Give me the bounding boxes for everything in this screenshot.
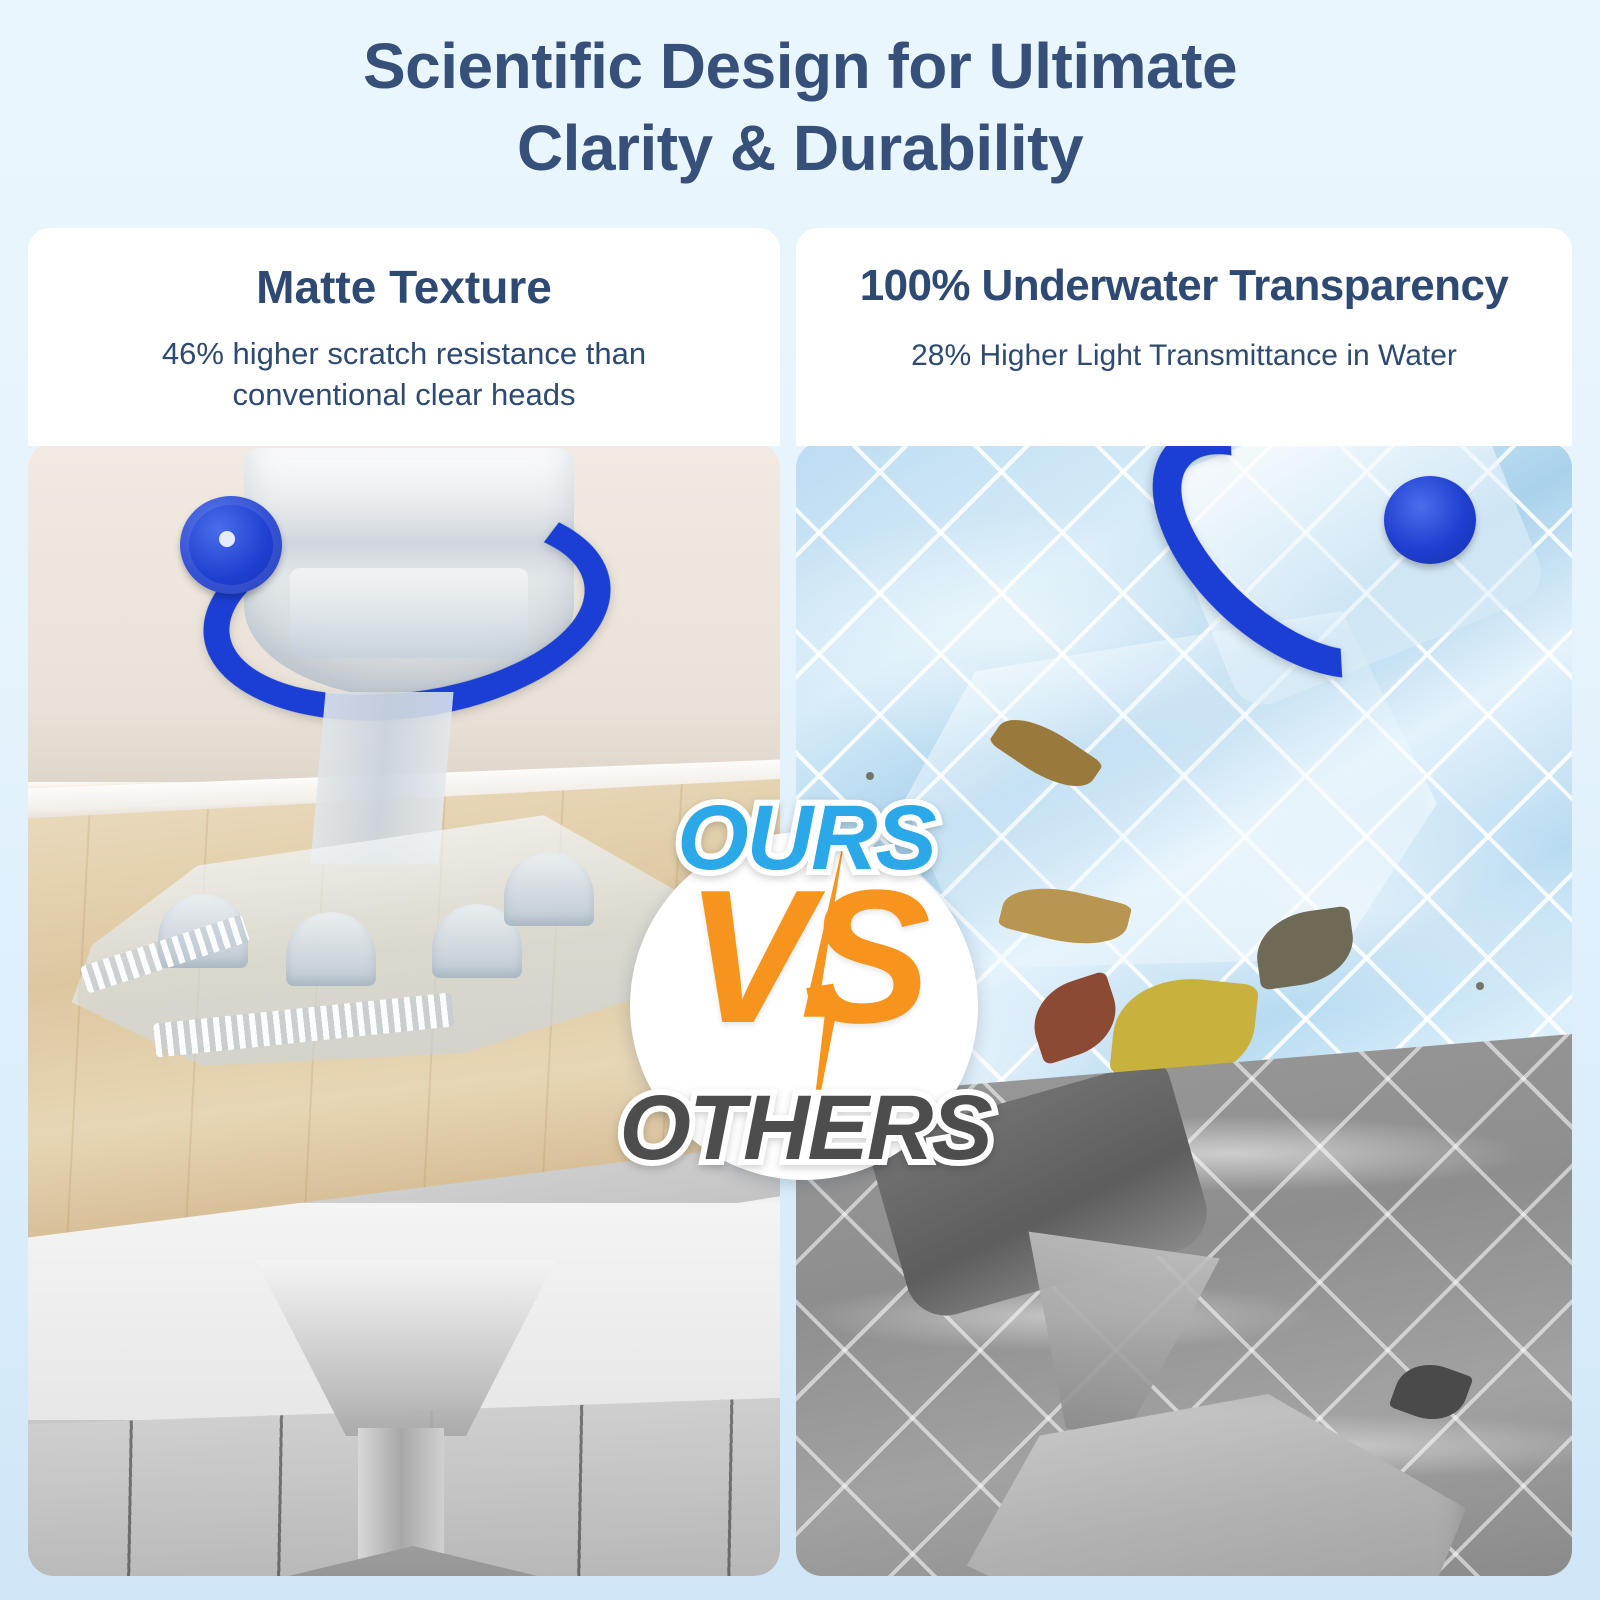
feature-subtitle-left: 46% higher scratch resistance than conve…: [28, 333, 780, 417]
blue-knob: [180, 496, 282, 594]
feature-title-left: Matte Texture: [28, 262, 780, 313]
feature-subtitle-right: 28% Higher Light Transmittance in Water: [796, 336, 1572, 377]
blue-knob: [1384, 476, 1476, 564]
page-title: Scientific Design for Ultimate Clarity &…: [0, 26, 1600, 190]
dirt-speck: [866, 772, 874, 780]
page-title-line-2: Clarity & Durability: [0, 108, 1600, 190]
page-title-line-1: Scientific Design for Ultimate: [0, 26, 1600, 108]
ours-label: OURS: [604, 786, 1008, 891]
feature-title-right: 100% Underwater Transparency: [796, 262, 1572, 310]
dirt-speck: [1476, 982, 1484, 990]
feature-card-matte-texture: Matte Texture 46% higher scratch resista…: [28, 228, 780, 446]
versus-badge: VS OURS OTHERS: [630, 832, 978, 1180]
feature-card-transparency: 100% Underwater Transparency 28% Higher …: [796, 228, 1572, 446]
others-label: OTHERS: [570, 1076, 1040, 1181]
